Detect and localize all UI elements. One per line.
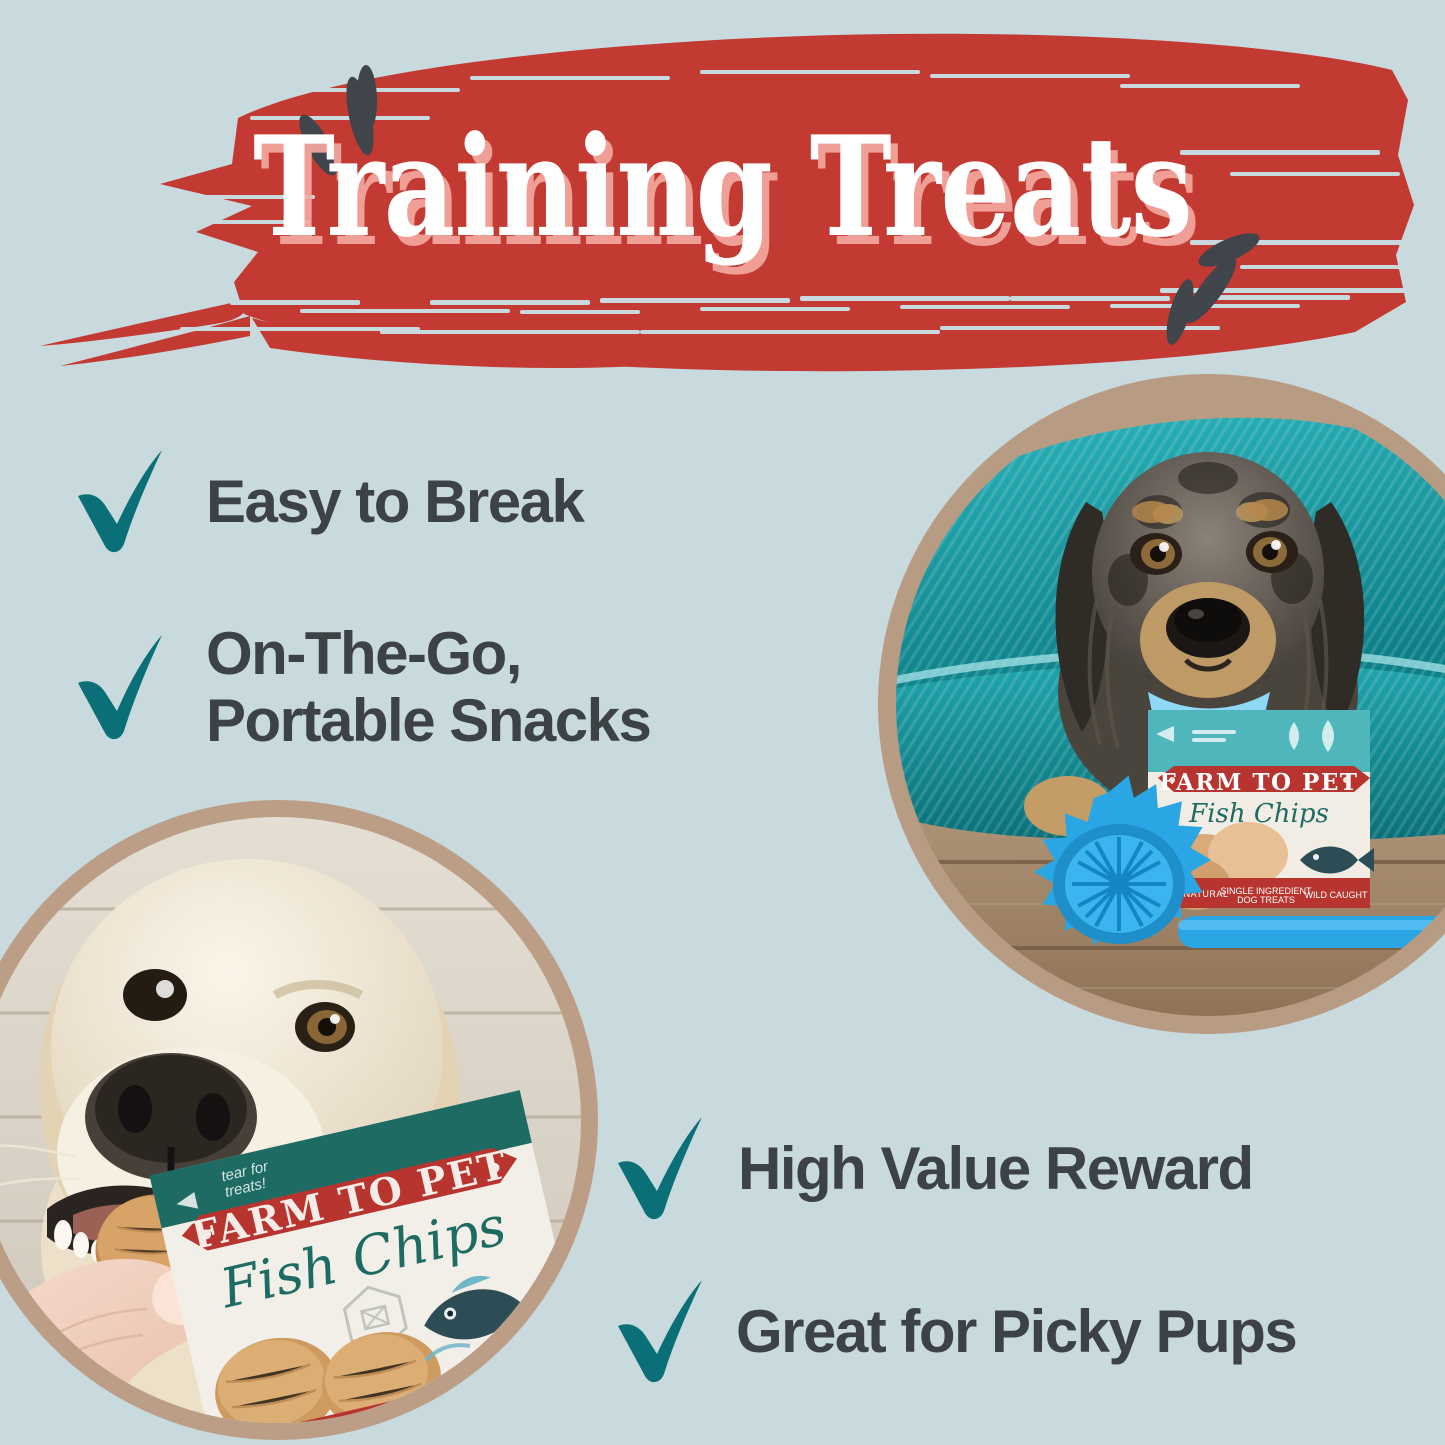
- photo-inner: FARM TO PET Fish Chips: [896, 392, 1445, 1016]
- feature-label: Easy to Break: [206, 472, 583, 532]
- feature-item-high-value-reward: High Value Reward: [612, 1115, 1253, 1223]
- feature-label: High Value Reward: [738, 1139, 1253, 1199]
- header-banner: Training Treats: [0, 0, 1445, 400]
- svg-text:DOG TREATS: DOG TREATS: [1237, 895, 1295, 905]
- check-icon: [72, 448, 168, 556]
- photo-golden-retriever-with-pouch: tear for treats! FARM TO PET Fish Chips: [0, 800, 598, 1440]
- check-icon: [72, 631, 168, 743]
- golden-retriever-scene: tear for treats! FARM TO PET Fish Chips: [0, 817, 581, 1423]
- svg-text:WILD CAUGHT: WILD CAUGHT: [1305, 890, 1369, 900]
- check-icon: [612, 1278, 708, 1386]
- page-title: Training Treats: [145, 118, 1301, 256]
- feature-label: Great for Picky Pups: [736, 1302, 1296, 1362]
- photo-dachshund-with-pouch: FARM TO PET Fish Chips: [878, 374, 1445, 1034]
- svg-text:FARM TO PET: FARM TO PET: [1159, 769, 1358, 796]
- dachshund-scene: FARM TO PET Fish Chips: [896, 392, 1445, 1016]
- feature-item-on-the-go: On-The-Go, Portable Snacks: [72, 620, 650, 754]
- poster-canvas: Training Treats Easy to Break On-The-Go,…: [0, 0, 1445, 1445]
- feature-item-easy-to-break: Easy to Break: [72, 448, 583, 556]
- feature-item-picky-pups: Great for Picky Pups: [612, 1278, 1296, 1386]
- check-icon: [612, 1115, 708, 1223]
- photo-inner: tear for treats! FARM TO PET Fish Chips: [0, 817, 581, 1423]
- feature-label: On-The-Go, Portable Snacks: [206, 620, 650, 754]
